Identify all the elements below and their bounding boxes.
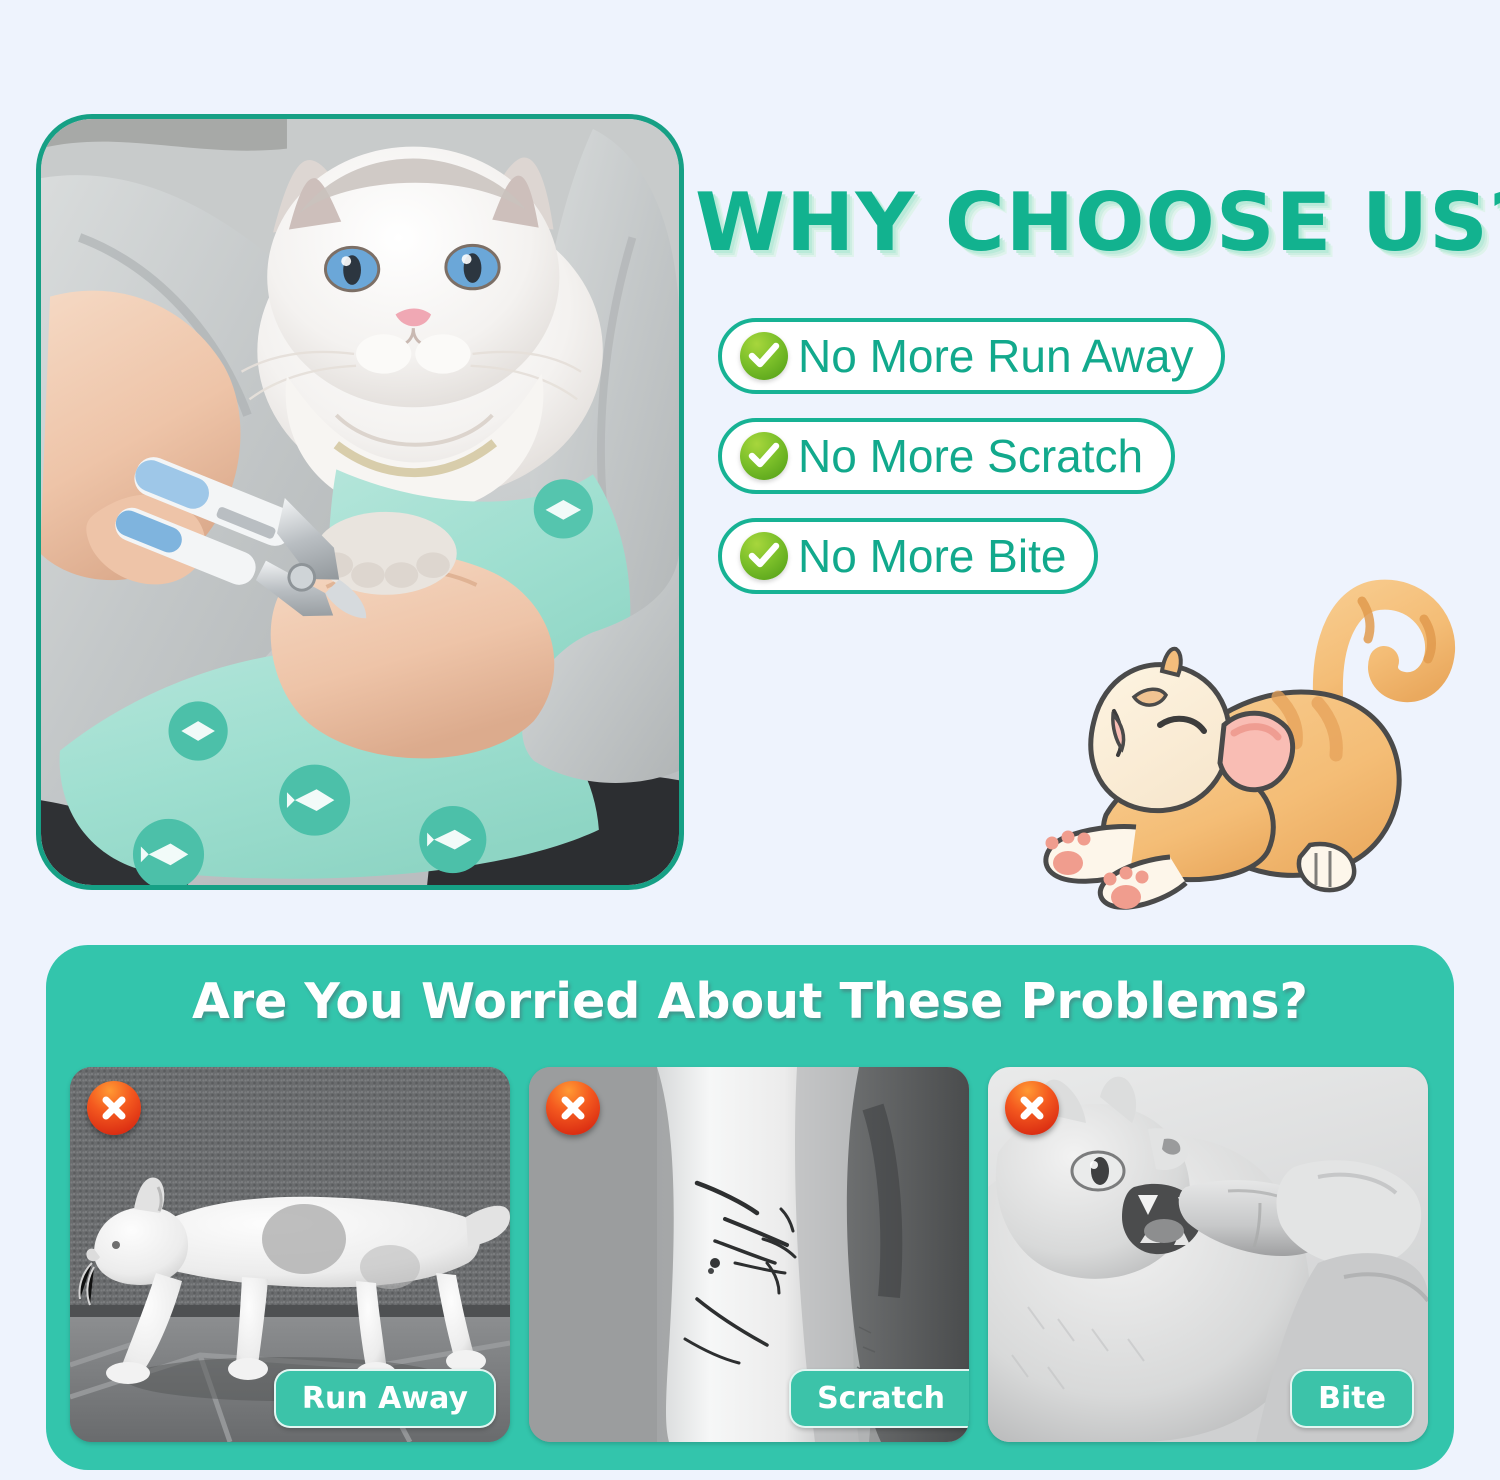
problem-card-label: Bite bbox=[1290, 1369, 1414, 1428]
benefit-label: No More Run Away bbox=[798, 333, 1193, 379]
problem-card-run-away[interactable]: Run Away bbox=[70, 1067, 510, 1442]
check-mark-glyph bbox=[747, 439, 781, 473]
benefit-label: No More Bite bbox=[798, 533, 1066, 579]
x-mark-glyph bbox=[98, 1092, 130, 1124]
check-circle-icon bbox=[740, 332, 788, 380]
x-mark-glyph bbox=[1016, 1092, 1048, 1124]
cartoon-cat-mascot bbox=[1010, 575, 1480, 920]
problem-card-scratch[interactable]: Scratch bbox=[529, 1067, 969, 1442]
page-title: WHY CHOOSE US? bbox=[695, 168, 1500, 278]
x-circle-icon bbox=[546, 1081, 600, 1135]
x-circle-icon bbox=[1005, 1081, 1059, 1135]
stretching-cat-illustration bbox=[1010, 575, 1480, 920]
cat-nail-trimming-illustration bbox=[41, 119, 679, 885]
x-circle-icon bbox=[87, 1081, 141, 1135]
hero-photo-inner bbox=[41, 119, 679, 885]
benefit-item-run-away[interactable]: No More Run Away bbox=[718, 318, 1225, 394]
benefit-item-scratch[interactable]: No More Scratch bbox=[718, 418, 1175, 494]
problem-card-label: Scratch bbox=[789, 1369, 969, 1428]
x-mark-glyph bbox=[557, 1092, 589, 1124]
infographic-root: WHY CHOOSE US? No More Run Away No More … bbox=[0, 0, 1500, 1480]
check-circle-icon bbox=[740, 532, 788, 580]
check-circle-icon bbox=[740, 432, 788, 480]
page-title-wrapper: WHY CHOOSE US? bbox=[695, 168, 1485, 278]
benefit-label: No More Scratch bbox=[798, 433, 1143, 479]
problem-cards: Run Away bbox=[70, 1067, 1428, 1442]
check-mark-glyph bbox=[747, 539, 781, 573]
benefits-list: No More Run Away No More Scratch No More… bbox=[718, 318, 1225, 594]
problems-heading: Are You Worried About These Problems? bbox=[46, 973, 1454, 1030]
problem-card-bite[interactable]: Bite bbox=[988, 1067, 1428, 1442]
problem-card-label: Run Away bbox=[274, 1369, 496, 1428]
check-mark-glyph bbox=[747, 339, 781, 373]
problems-panel: Are You Worried About These Problems? bbox=[46, 945, 1454, 1470]
hero-product-photo bbox=[36, 114, 684, 890]
